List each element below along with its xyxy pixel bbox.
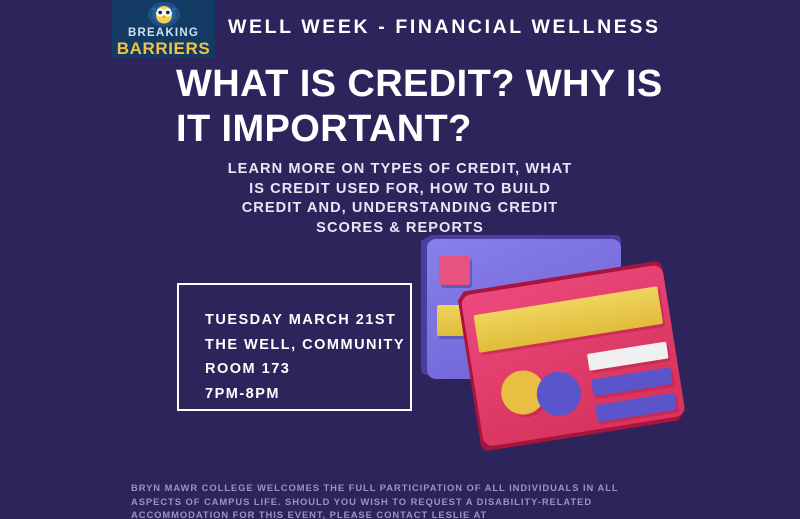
logo-text-barriers: BARRIERS	[117, 40, 211, 58]
event-date: TUESDAY MARCH 21ST	[205, 308, 402, 333]
event-time: 7PM-8PM	[205, 382, 402, 407]
description-line-1: LEARN MORE ON TYPES OF CREDIT, WHAT	[200, 160, 600, 180]
event-location-line-1: THE WELL, COMMUNITY	[205, 333, 402, 358]
pink-credit-card	[457, 260, 685, 451]
description-line-2: IS CREDIT USED FOR, HOW TO BUILD	[200, 180, 600, 200]
event-details-text: TUESDAY MARCH 21ST THE WELL, COMMUNITY R…	[205, 308, 402, 406]
event-location-line-2: ROOM 173	[205, 357, 402, 382]
accessibility-disclaimer: BRYN MAWR COLLEGE WELCOMES THE FULL PART…	[131, 481, 691, 519]
poster-canvas: BREAKING BARRIERS WELL WEEK - FINANCIAL …	[0, 0, 800, 519]
disclaimer-line-1: BRYN MAWR COLLEGE WELCOMES THE FULL PART…	[131, 481, 691, 495]
description-line-3: CREDIT AND, UNDERSTANDING CREDIT	[200, 199, 600, 219]
headline-line-1: WHAT IS CREDIT? WHY IS	[176, 62, 696, 107]
disclaimer-line-3: ACCOMMODATION FOR THIS EVENT, PLEASE CON…	[131, 508, 691, 519]
event-details-box: TUESDAY MARCH 21ST THE WELL, COMMUNITY R…	[177, 283, 412, 411]
credit-cards-illustration	[415, 225, 685, 475]
disclaimer-line-2: ASPECTS OF CAMPUS LIFE. SHOULD YOU WISH …	[131, 495, 691, 509]
event-series-kicker: WELL WEEK - FINANCIAL WELLNESS	[228, 16, 661, 39]
breaking-barriers-logo: BREAKING BARRIERS	[112, 0, 215, 58]
page-title: WHAT IS CREDIT? WHY IS IT IMPORTANT?	[176, 62, 696, 152]
headline-line-2: IT IMPORTANT?	[176, 107, 696, 152]
owl-mascot-icon	[147, 2, 181, 27]
